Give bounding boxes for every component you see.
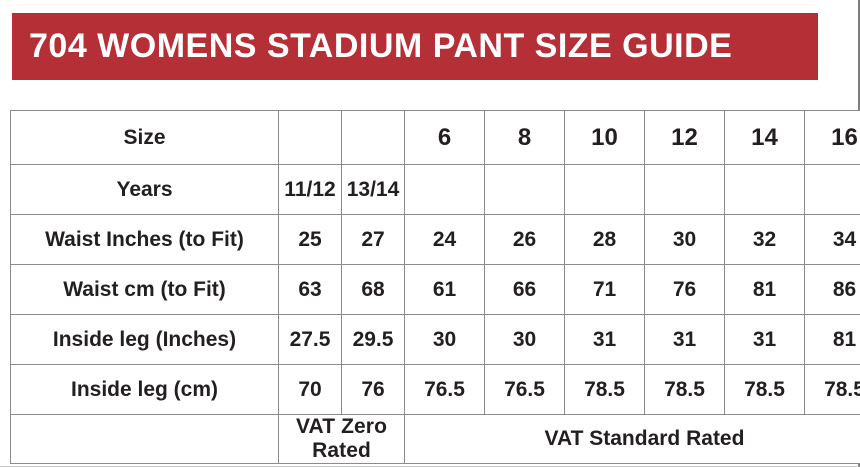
cell-size-adult-2: 10 xyxy=(565,111,645,165)
size-guide-page: 704 WOMENS STADIUM PANT SIZE GUIDE Size … xyxy=(0,0,860,467)
row-label-waist-inches: Waist Inches (to Fit) xyxy=(11,215,279,265)
table-row-waist-cm: Waist cm (to Fit) 63 68 61 66 71 76 81 8… xyxy=(11,265,860,315)
cell-size-adult-3: 12 xyxy=(645,111,725,165)
cell-waist-cm-adult-3: 76 xyxy=(645,265,725,315)
row-label-inside-leg-cm: Inside leg (cm) xyxy=(11,365,279,415)
cell-inside-leg-inches-adult-4: 31 xyxy=(725,315,805,365)
row-label-inside-leg-inches: Inside leg (Inches) xyxy=(11,315,279,365)
table-row-vat: VAT Zero Rated VAT Standard Rated xyxy=(11,415,860,464)
cell-inside-leg-inches-adult-3: 31 xyxy=(645,315,725,365)
page-banner: 704 WOMENS STADIUM PANT SIZE GUIDE xyxy=(12,13,818,80)
cell-waist-cm-adult-2: 71 xyxy=(565,265,645,315)
table-row-size: Size 6 8 10 12 14 16 xyxy=(11,111,860,165)
cell-size-youth-0 xyxy=(279,111,342,165)
cell-years-adult-2 xyxy=(565,165,645,215)
row-label-vat xyxy=(11,415,279,464)
cell-inside-leg-cm-adult-3: 78.5 xyxy=(645,365,725,415)
cell-inside-leg-cm-adult-5: 78.5 xyxy=(805,365,860,415)
cell-years-adult-0 xyxy=(405,165,485,215)
cell-inside-leg-inches-adult-2: 31 xyxy=(565,315,645,365)
row-label-size: Size xyxy=(11,111,279,165)
row-label-years: Years xyxy=(11,165,279,215)
cell-inside-leg-inches-adult-0: 30 xyxy=(405,315,485,365)
cell-inside-leg-cm-adult-0: 76.5 xyxy=(405,365,485,415)
table-row-inside-leg-inches: Inside leg (Inches) 27.5 29.5 30 30 31 3… xyxy=(11,315,860,365)
cell-years-adult-3 xyxy=(645,165,725,215)
cell-years-adult-5 xyxy=(805,165,860,215)
cell-waist-inches-adult-1: 26 xyxy=(485,215,565,265)
row-label-waist-cm: Waist cm (to Fit) xyxy=(11,265,279,315)
cell-years-youth-0: 11/12 xyxy=(279,165,342,215)
cell-years-youth-1: 13/14 xyxy=(342,165,405,215)
cell-waist-cm-adult-5: 86 xyxy=(805,265,860,315)
cell-waist-cm-youth-1: 68 xyxy=(342,265,405,315)
cell-years-adult-4 xyxy=(725,165,805,215)
cell-inside-leg-inches-adult-1: 30 xyxy=(485,315,565,365)
cell-inside-leg-cm-youth-0: 70 xyxy=(279,365,342,415)
cell-inside-leg-inches-adult-5: 81 xyxy=(805,315,860,365)
table-row-inside-leg-cm: Inside leg (cm) 70 76 76.5 76.5 78.5 78.… xyxy=(11,365,860,415)
cell-inside-leg-cm-adult-4: 78.5 xyxy=(725,365,805,415)
cell-inside-leg-inches-youth-0: 27.5 xyxy=(279,315,342,365)
cell-waist-inches-adult-4: 32 xyxy=(725,215,805,265)
table-row-waist-inches: Waist Inches (to Fit) 25 27 24 26 28 30 … xyxy=(11,215,860,265)
vat-zero-rated-cell: VAT Zero Rated xyxy=(279,415,405,464)
table-row-years: Years 11/12 13/14 xyxy=(11,165,860,215)
cell-inside-leg-cm-adult-1: 76.5 xyxy=(485,365,565,415)
cell-size-youth-1 xyxy=(342,111,405,165)
cell-waist-inches-youth-1: 27 xyxy=(342,215,405,265)
cell-waist-cm-youth-0: 63 xyxy=(279,265,342,315)
cell-waist-inches-adult-5: 34 xyxy=(805,215,860,265)
cell-size-adult-5: 16 xyxy=(805,111,860,165)
size-table-container: Size 6 8 10 12 14 16 Years 11/12 13/14 xyxy=(10,110,816,464)
cell-waist-cm-adult-4: 81 xyxy=(725,265,805,315)
cell-waist-cm-adult-0: 61 xyxy=(405,265,485,315)
cell-inside-leg-inches-youth-1: 29.5 xyxy=(342,315,405,365)
page-title: 704 WOMENS STADIUM PANT SIZE GUIDE xyxy=(12,27,732,66)
vat-standard-rated-cell: VAT Standard Rated xyxy=(405,415,860,464)
cell-size-adult-1: 8 xyxy=(485,111,565,165)
cell-inside-leg-cm-adult-2: 78.5 xyxy=(565,365,645,415)
cell-inside-leg-cm-youth-1: 76 xyxy=(342,365,405,415)
cell-waist-inches-adult-0: 24 xyxy=(405,215,485,265)
cell-size-adult-0: 6 xyxy=(405,111,485,165)
cell-waist-cm-adult-1: 66 xyxy=(485,265,565,315)
size-guide-table: Size 6 8 10 12 14 16 Years 11/12 13/14 xyxy=(10,110,860,464)
cell-waist-inches-youth-0: 25 xyxy=(279,215,342,265)
cell-size-adult-4: 14 xyxy=(725,111,805,165)
cell-waist-inches-adult-3: 30 xyxy=(645,215,725,265)
cell-waist-inches-adult-2: 28 xyxy=(565,215,645,265)
cell-years-adult-1 xyxy=(485,165,565,215)
